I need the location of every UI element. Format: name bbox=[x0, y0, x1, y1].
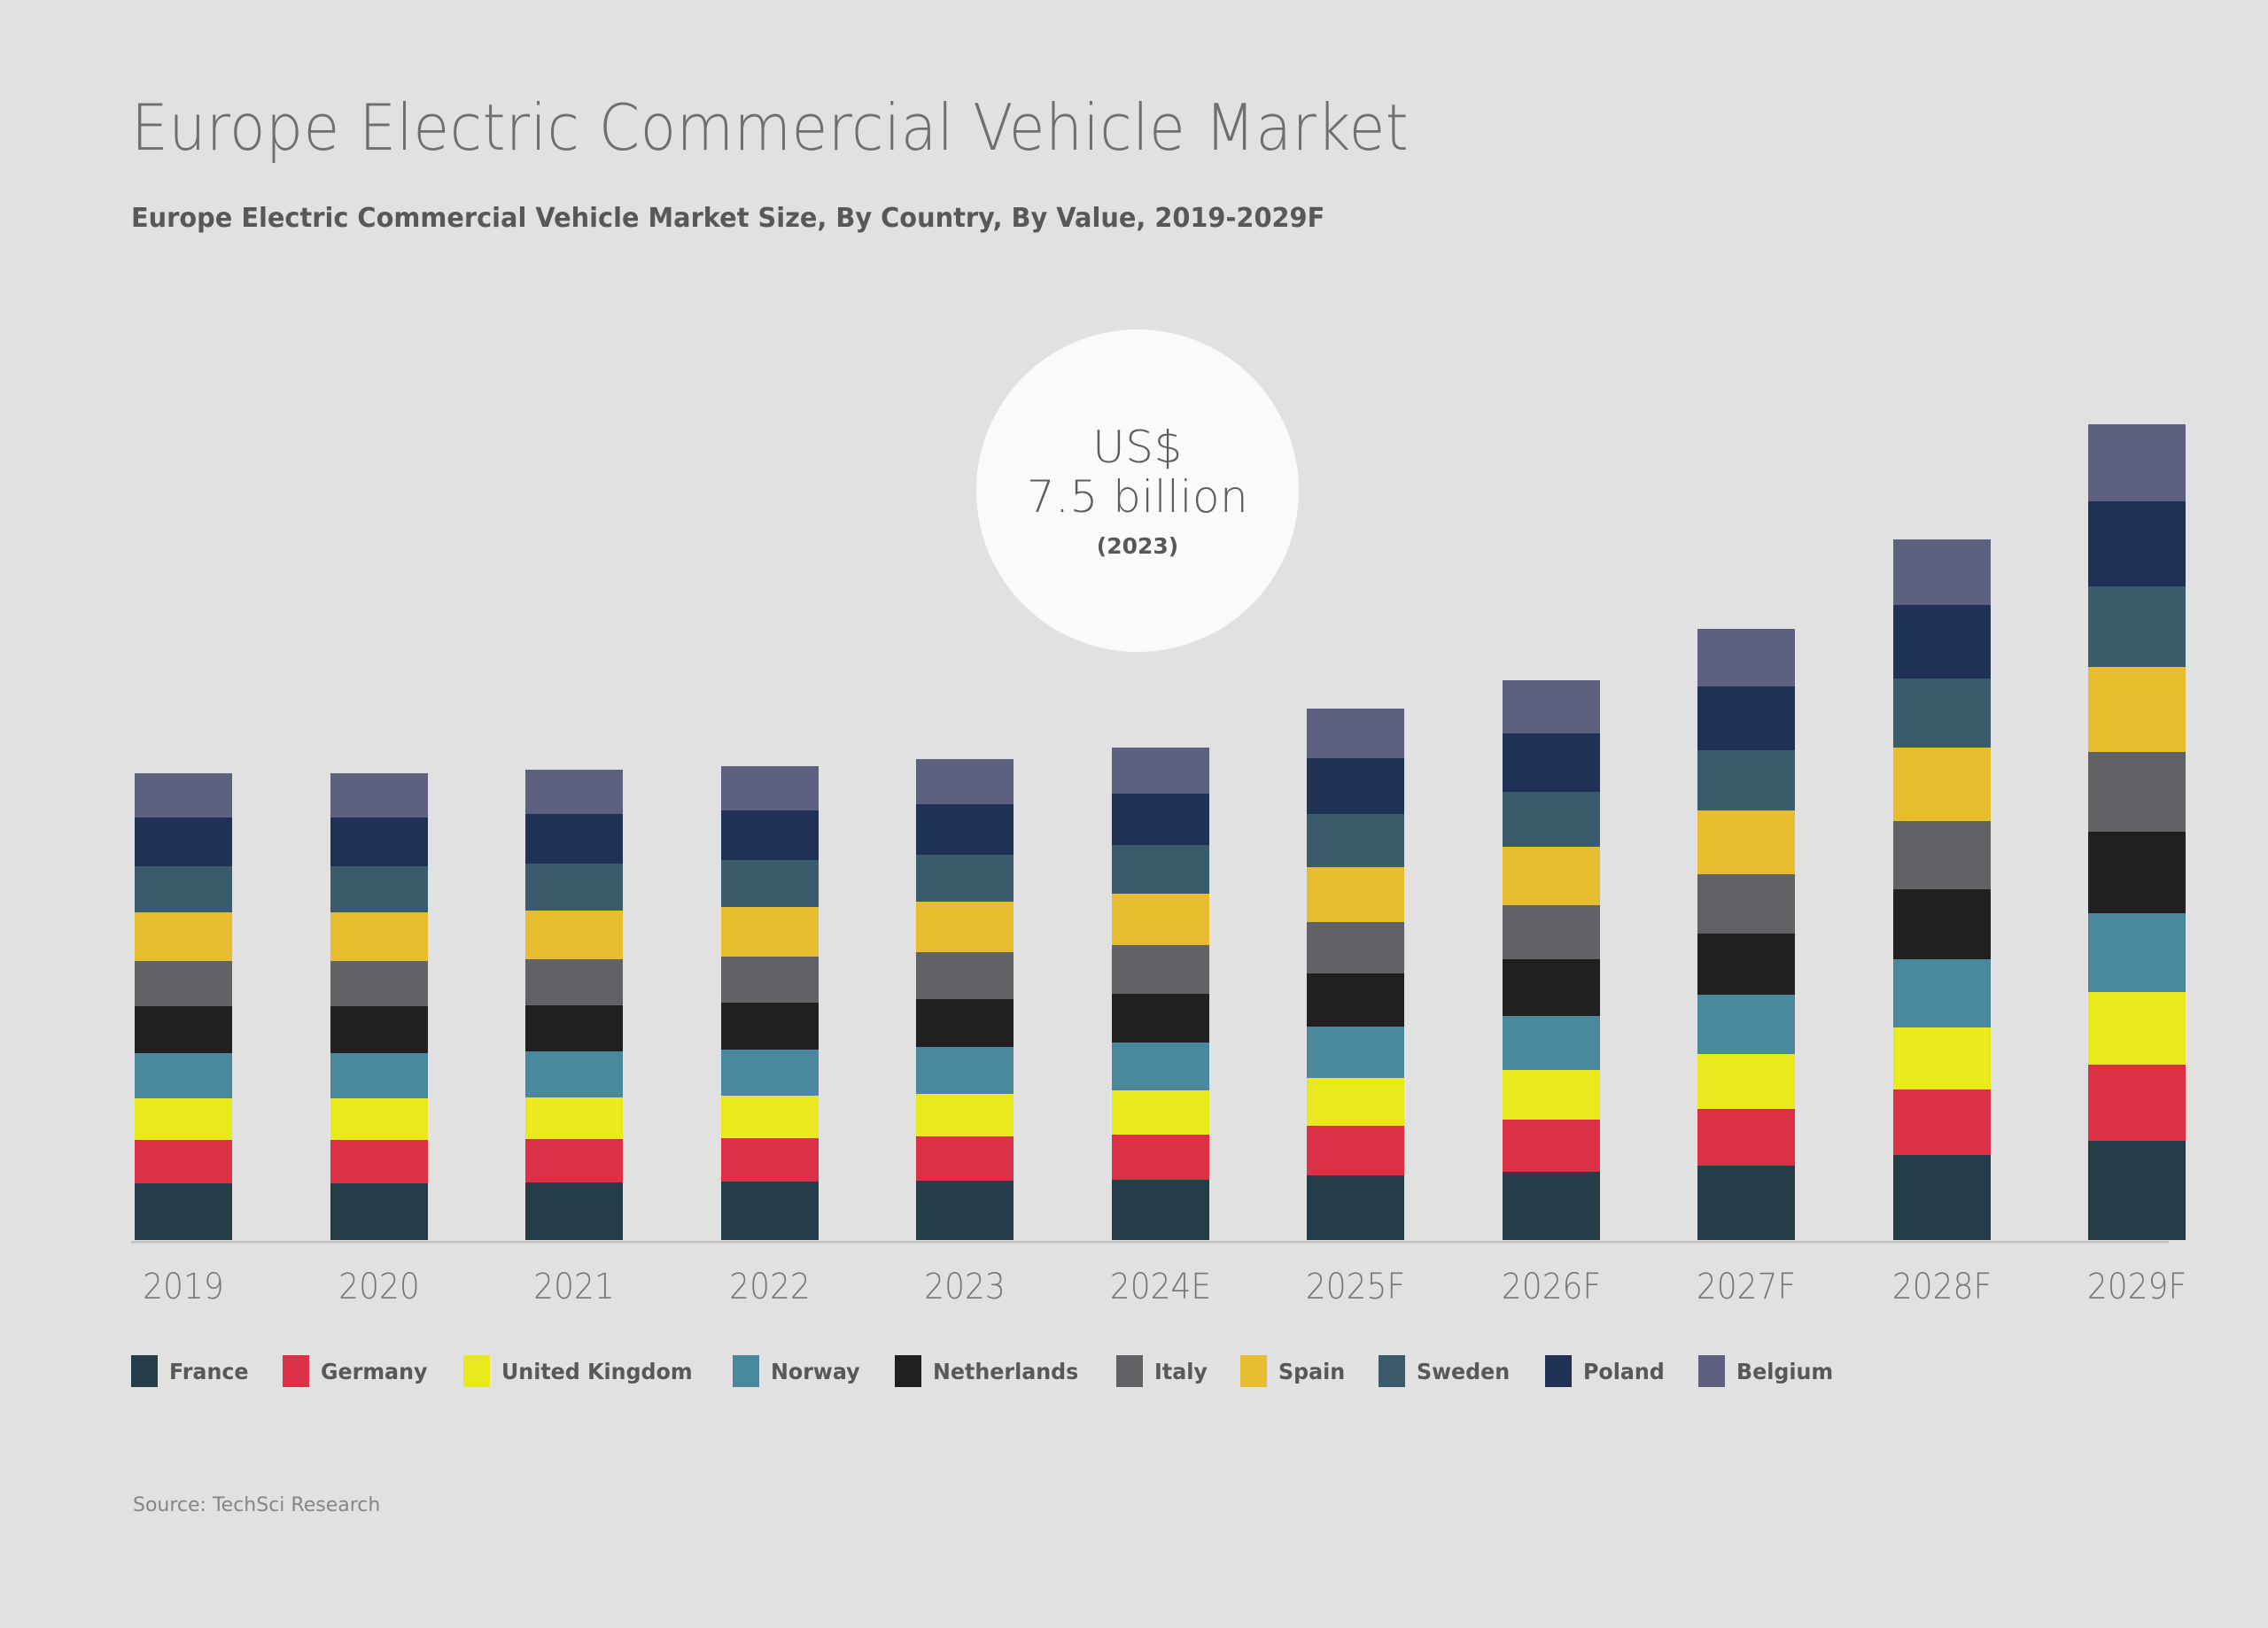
bar-segment-norway[interactable] bbox=[1503, 1016, 1600, 1070]
bar-segment-italy[interactable] bbox=[721, 957, 819, 1003]
bar-segment-belgium[interactable] bbox=[1307, 709, 1404, 759]
bar-segment-spain[interactable] bbox=[2088, 667, 2186, 752]
bar-segment-united-kingdom[interactable] bbox=[721, 1096, 819, 1137]
bar-column-2027f[interactable] bbox=[1697, 629, 1795, 1240]
legend-label-norway: Norway bbox=[771, 1359, 860, 1384]
bar-segment-france[interactable] bbox=[1893, 1155, 1991, 1240]
bar-segment-spain[interactable] bbox=[1503, 847, 1600, 905]
bar-segment-germany[interactable] bbox=[721, 1138, 819, 1182]
bar-segment-united-kingdom[interactable] bbox=[1112, 1090, 1209, 1135]
legend-label-germany: Germany bbox=[321, 1359, 427, 1384]
x-axis-tick-2022: 2022 bbox=[706, 1267, 834, 1307]
bar-segment-norway[interactable] bbox=[525, 1051, 623, 1097]
x-axis-tick-2024e: 2024E bbox=[1097, 1267, 1224, 1307]
bar-segment-sweden[interactable] bbox=[135, 866, 232, 912]
x-axis-tick-2020: 2020 bbox=[315, 1267, 443, 1307]
bar-segment-sweden[interactable] bbox=[525, 864, 623, 911]
bar-column-2026f[interactable] bbox=[1503, 680, 1600, 1240]
legend-item-belgium[interactable]: Belgium bbox=[1698, 1355, 1838, 1387]
legend-item-france[interactable]: France bbox=[131, 1355, 252, 1387]
x-axis-tick-2021: 2021 bbox=[510, 1267, 638, 1307]
bar-segment-spain[interactable] bbox=[1893, 748, 1991, 821]
bar-segment-netherlands[interactable] bbox=[1307, 973, 1404, 1027]
bar-segment-netherlands[interactable] bbox=[525, 1005, 623, 1052]
bar-column-2023[interactable] bbox=[916, 759, 1014, 1240]
bar-segment-belgium[interactable] bbox=[525, 770, 623, 814]
x-axis-tick-2028f: 2028F bbox=[1878, 1267, 2006, 1307]
legend-swatch-france bbox=[131, 1355, 158, 1387]
bar-segment-spain[interactable] bbox=[1112, 894, 1209, 945]
bar-column-2029f[interactable] bbox=[2088, 424, 2186, 1240]
x-axis-tick-2026f: 2026F bbox=[1487, 1267, 1615, 1307]
bar-segment-netherlands[interactable] bbox=[1697, 934, 1795, 995]
bar-segment-spain[interactable] bbox=[1697, 810, 1795, 874]
bar-segment-belgium[interactable] bbox=[916, 759, 1014, 804]
legend-label-poland: Poland bbox=[1583, 1359, 1665, 1384]
bar-segment-germany[interactable] bbox=[1697, 1109, 1795, 1166]
bar-segment-poland[interactable] bbox=[135, 818, 232, 866]
bar-segment-norway[interactable] bbox=[330, 1053, 428, 1098]
bar-segment-germany[interactable] bbox=[525, 1139, 623, 1182]
bar-segment-france[interactable] bbox=[1503, 1172, 1600, 1240]
bar-segment-france[interactable] bbox=[1112, 1180, 1209, 1240]
bar-segment-belgium[interactable] bbox=[330, 773, 428, 818]
bar-segment-poland[interactable] bbox=[1503, 733, 1600, 792]
bar-segment-sweden[interactable] bbox=[1503, 792, 1600, 848]
source-note: Source: TechSci Research bbox=[133, 1494, 380, 1516]
bar-column-2024e[interactable] bbox=[1112, 748, 1209, 1240]
chart-legend: FranceGermanyUnited KingdomNorwayNetherl… bbox=[131, 1355, 1868, 1387]
bar-segment-italy[interactable] bbox=[330, 961, 428, 1006]
bar-segment-italy[interactable] bbox=[916, 952, 1014, 999]
bar-segment-united-kingdom[interactable] bbox=[330, 1098, 428, 1140]
x-axis-tick-2025f: 2025F bbox=[1292, 1267, 1419, 1307]
bar-segment-netherlands[interactable] bbox=[135, 1006, 232, 1053]
legend-label-italy: Italy bbox=[1154, 1359, 1208, 1384]
bar-segment-italy[interactable] bbox=[1307, 922, 1404, 973]
bar-segment-poland[interactable] bbox=[1697, 686, 1795, 750]
legend-item-norway[interactable]: Norway bbox=[733, 1355, 865, 1387]
legend-label-netherlands: Netherlands bbox=[933, 1359, 1078, 1384]
bar-segment-belgium[interactable] bbox=[2088, 424, 2186, 500]
bar-segment-italy[interactable] bbox=[525, 959, 623, 1004]
bar-segment-germany[interactable] bbox=[330, 1140, 428, 1183]
bar-segment-germany[interactable] bbox=[1112, 1135, 1209, 1180]
legend-item-italy[interactable]: Italy bbox=[1116, 1355, 1210, 1387]
bar-segment-united-kingdom[interactable] bbox=[1697, 1054, 1795, 1108]
bar-segment-poland[interactable] bbox=[1307, 758, 1404, 814]
bar-column-2025f[interactable] bbox=[1307, 709, 1404, 1240]
bar-segment-spain[interactable] bbox=[721, 907, 819, 957]
bar-segment-poland[interactable] bbox=[1893, 605, 1991, 678]
bar-segment-poland[interactable] bbox=[2088, 501, 2186, 586]
bar-segment-italy[interactable] bbox=[2088, 752, 2186, 831]
legend-swatch-netherlands bbox=[895, 1355, 921, 1387]
bar-column-2022[interactable] bbox=[721, 766, 819, 1240]
bar-segment-sweden[interactable] bbox=[1893, 678, 1991, 748]
bar-segment-sweden[interactable] bbox=[916, 855, 1014, 903]
bar-segment-united-kingdom[interactable] bbox=[1307, 1078, 1404, 1126]
bar-segment-poland[interactable] bbox=[1112, 794, 1209, 845]
bar-segment-germany[interactable] bbox=[1893, 1089, 1991, 1154]
bar-segment-netherlands[interactable] bbox=[330, 1006, 428, 1053]
bar-segment-france[interactable] bbox=[2088, 1141, 2186, 1240]
bar-column-2028f[interactable] bbox=[1893, 539, 1991, 1240]
bar-segment-sweden[interactable] bbox=[330, 866, 428, 912]
bar-segment-france[interactable] bbox=[135, 1183, 232, 1240]
bar-column-2021[interactable] bbox=[525, 770, 623, 1240]
bar-segment-united-kingdom[interactable] bbox=[525, 1097, 623, 1139]
legend-swatch-italy bbox=[1116, 1355, 1143, 1387]
bar-segment-italy[interactable] bbox=[1503, 905, 1600, 959]
bar-segment-france[interactable] bbox=[1307, 1175, 1404, 1240]
legend-item-germany[interactable]: Germany bbox=[283, 1355, 433, 1387]
bar-segment-norway[interactable] bbox=[135, 1053, 232, 1098]
legend-swatch-norway bbox=[733, 1355, 759, 1387]
bar-segment-italy[interactable] bbox=[1112, 945, 1209, 993]
bar-segment-france[interactable] bbox=[330, 1183, 428, 1240]
legend-swatch-belgium bbox=[1698, 1355, 1725, 1387]
legend-item-poland[interactable]: Poland bbox=[1545, 1355, 1669, 1387]
bar-segment-sweden[interactable] bbox=[2088, 586, 2186, 667]
bar-segment-germany[interactable] bbox=[1503, 1120, 1600, 1172]
bar-column-2019[interactable] bbox=[135, 773, 232, 1240]
bar-segment-france[interactable] bbox=[721, 1182, 819, 1240]
bar-segment-belgium[interactable] bbox=[1112, 748, 1209, 794]
legend-item-spain[interactable]: Spain bbox=[1240, 1355, 1348, 1387]
legend-item-netherlands[interactable]: Netherlands bbox=[895, 1355, 1086, 1387]
bar-segment-germany[interactable] bbox=[916, 1136, 1014, 1181]
bar-segment-france[interactable] bbox=[1697, 1166, 1795, 1240]
bar-segment-united-kingdom[interactable] bbox=[1503, 1070, 1600, 1120]
bar-segment-spain[interactable] bbox=[330, 912, 428, 961]
bar-segment-sweden[interactable] bbox=[1112, 845, 1209, 894]
bar-segment-italy[interactable] bbox=[1697, 874, 1795, 934]
legend-item-sweden[interactable]: Sweden bbox=[1379, 1355, 1515, 1387]
bar-segment-netherlands[interactable] bbox=[721, 1003, 819, 1050]
bar-segment-belgium[interactable] bbox=[135, 773, 232, 818]
bar-segment-norway[interactable] bbox=[1307, 1027, 1404, 1078]
legend-swatch-poland bbox=[1545, 1355, 1572, 1387]
bar-segment-france[interactable] bbox=[916, 1181, 1014, 1240]
bar-segment-spain[interactable] bbox=[135, 912, 232, 961]
bar-segment-united-kingdom[interactable] bbox=[916, 1094, 1014, 1136]
legend-label-united-kingdom: United Kingdom bbox=[501, 1359, 693, 1384]
bar-segment-norway[interactable] bbox=[1893, 959, 1991, 1027]
x-axis-tick-2019: 2019 bbox=[120, 1267, 247, 1307]
legend-swatch-spain bbox=[1240, 1355, 1267, 1387]
bar-segment-belgium[interactable] bbox=[721, 766, 819, 810]
bar-segment-united-kingdom[interactable] bbox=[2088, 992, 2186, 1065]
bar-segment-france[interactable] bbox=[525, 1182, 623, 1240]
bar-segment-germany[interactable] bbox=[1307, 1126, 1404, 1175]
x-axis-tick-2027f: 2027F bbox=[1682, 1267, 1810, 1307]
bar-column-2020[interactable] bbox=[330, 773, 428, 1240]
bar-segment-italy[interactable] bbox=[1893, 821, 1991, 889]
bar-segment-spain[interactable] bbox=[525, 911, 623, 960]
bar-segment-netherlands[interactable] bbox=[916, 999, 1014, 1047]
bar-segment-norway[interactable] bbox=[721, 1050, 819, 1096]
bar-segment-belgium[interactable] bbox=[1503, 680, 1600, 733]
bar-segment-sweden[interactable] bbox=[1697, 750, 1795, 810]
legend-label-spain: Spain bbox=[1278, 1359, 1345, 1384]
legend-item-united-kingdom[interactable]: United Kingdom bbox=[463, 1355, 703, 1387]
legend-label-france: France bbox=[169, 1359, 249, 1384]
bar-segment-italy[interactable] bbox=[135, 961, 232, 1006]
bar-segment-norway[interactable] bbox=[1112, 1043, 1209, 1090]
bar-segment-spain[interactable] bbox=[916, 902, 1014, 952]
bar-segment-netherlands[interactable] bbox=[1112, 994, 1209, 1043]
bar-segment-netherlands[interactable] bbox=[1893, 889, 1991, 959]
bar-segment-belgium[interactable] bbox=[1697, 629, 1795, 686]
x-axis-line bbox=[131, 1241, 2169, 1244]
infographic-root: Europe Electric Commercial Vehicle Marke… bbox=[0, 0, 2268, 1628]
bar-segment-germany[interactable] bbox=[2088, 1065, 2186, 1141]
bar-segment-norway[interactable] bbox=[2088, 913, 2186, 992]
legend-swatch-united-kingdom bbox=[463, 1355, 490, 1387]
bar-segment-netherlands[interactable] bbox=[1503, 959, 1600, 1015]
bar-segment-poland[interactable] bbox=[525, 814, 623, 864]
bar-segment-poland[interactable] bbox=[330, 818, 428, 866]
bar-segment-norway[interactable] bbox=[1697, 995, 1795, 1054]
bar-segment-poland[interactable] bbox=[721, 810, 819, 860]
legend-swatch-germany bbox=[283, 1355, 309, 1387]
bar-segment-belgium[interactable] bbox=[1893, 539, 1991, 605]
bar-segment-netherlands[interactable] bbox=[2088, 832, 2186, 913]
x-axis-tick-2029f: 2029F bbox=[2073, 1267, 2201, 1307]
legend-label-sweden: Sweden bbox=[1417, 1359, 1510, 1384]
bar-segment-norway[interactable] bbox=[916, 1047, 1014, 1094]
bar-segment-sweden[interactable] bbox=[721, 860, 819, 907]
bar-segment-sweden[interactable] bbox=[1307, 814, 1404, 867]
bar-segment-spain[interactable] bbox=[1307, 867, 1404, 923]
legend-label-belgium: Belgium bbox=[1736, 1359, 1833, 1384]
bar-segment-germany[interactable] bbox=[135, 1140, 232, 1183]
legend-swatch-sweden bbox=[1379, 1355, 1405, 1387]
bar-segment-united-kingdom[interactable] bbox=[135, 1098, 232, 1140]
bar-segment-poland[interactable] bbox=[916, 804, 1014, 855]
x-axis-tick-2023: 2023 bbox=[901, 1267, 1029, 1307]
bar-segment-united-kingdom[interactable] bbox=[1893, 1027, 1991, 1089]
